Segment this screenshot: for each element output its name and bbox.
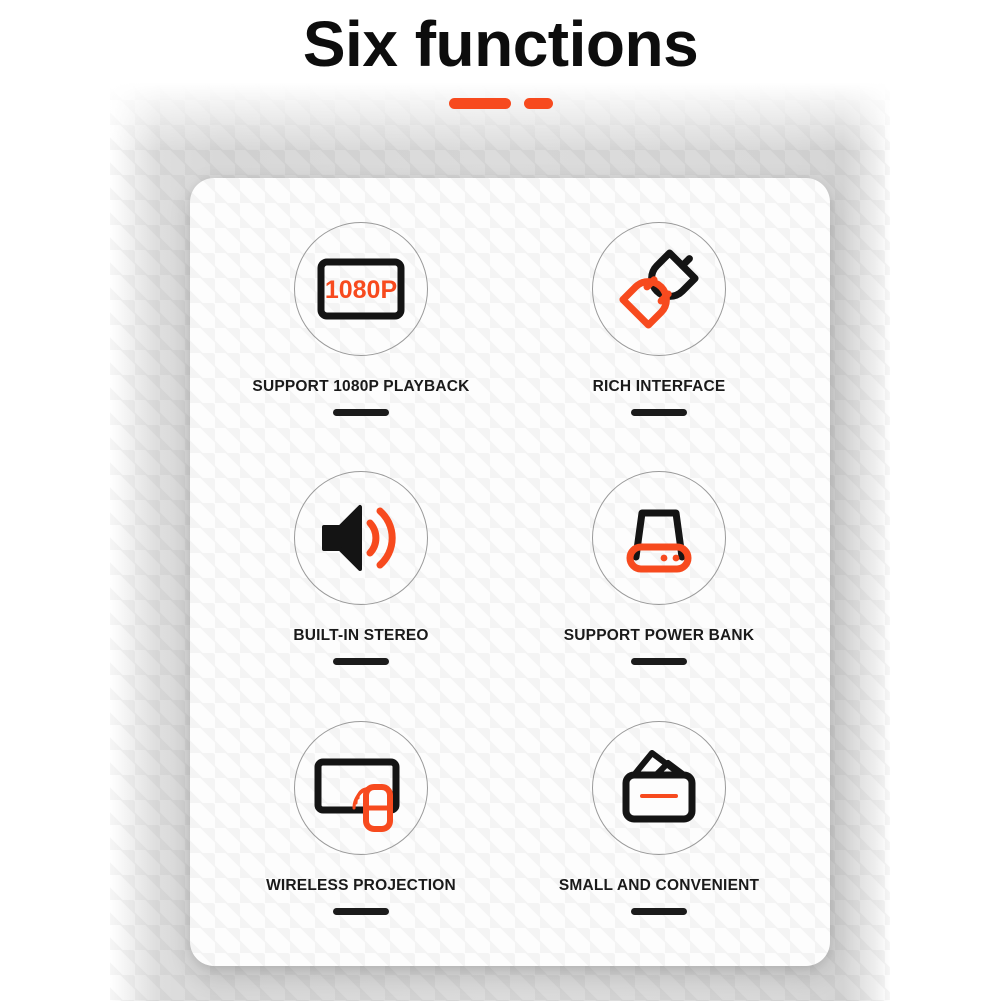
divider-dash-long bbox=[449, 98, 511, 109]
feature-label: RICH INTERFACE bbox=[593, 378, 726, 396]
label-underline bbox=[333, 658, 389, 665]
feature-item-small-convenient[interactable]: SMALL AND CONVENIENT bbox=[510, 703, 808, 952]
title-divider bbox=[0, 98, 1001, 109]
label-underline bbox=[631, 409, 687, 416]
feature-label: BUILT-IN STEREO bbox=[293, 627, 428, 645]
icon-circle bbox=[592, 471, 726, 605]
feature-grid: 1080P SUPPORT 1080P PLAYBACK bbox=[190, 178, 830, 966]
speaker-sound-icon bbox=[308, 485, 414, 591]
feature-label: WIRELESS PROJECTION bbox=[266, 877, 456, 895]
feature-item-builtin-stereo[interactable]: BUILT-IN STEREO bbox=[212, 453, 510, 702]
plug-socket-icon bbox=[606, 236, 712, 342]
wallet-pocket-icon bbox=[606, 735, 712, 841]
divider-dash-short bbox=[524, 98, 553, 109]
feature-item-wireless-projection[interactable]: WIRELESS PROJECTION bbox=[212, 703, 510, 952]
feature-item-rich-interface[interactable]: RICH INTERFACE bbox=[510, 204, 808, 453]
label-underline bbox=[333, 409, 389, 416]
feature-card: 1080P SUPPORT 1080P PLAYBACK bbox=[190, 178, 830, 966]
page-title: Six functions bbox=[0, 8, 1001, 82]
feature-label: SUPPORT POWER BANK bbox=[564, 627, 754, 645]
icon-circle bbox=[294, 471, 428, 605]
feature-label: SMALL AND CONVENIENT bbox=[559, 877, 759, 895]
feature-item-power-bank[interactable]: SUPPORT POWER BANK bbox=[510, 453, 808, 702]
icon-1080p-text: 1080P bbox=[325, 276, 397, 304]
wireless-cast-screen-icon bbox=[308, 735, 414, 841]
label-underline bbox=[631, 658, 687, 665]
promo-feature-page: Six functions 1080P SUPPORT 1080P PLAYBA… bbox=[0, 0, 1001, 1001]
label-underline bbox=[631, 908, 687, 915]
icon-circle bbox=[592, 721, 726, 855]
feature-item-1080p-playback[interactable]: 1080P SUPPORT 1080P PLAYBACK bbox=[212, 204, 510, 453]
page-header: Six functions bbox=[0, 8, 1001, 109]
power-bank-icon bbox=[606, 485, 712, 591]
feature-label: SUPPORT 1080P PLAYBACK bbox=[252, 378, 469, 396]
screen-1080p-icon: 1080P bbox=[308, 236, 414, 342]
icon-circle bbox=[592, 222, 726, 356]
icon-circle: 1080P bbox=[294, 222, 428, 356]
icon-circle bbox=[294, 721, 428, 855]
label-underline bbox=[333, 908, 389, 915]
